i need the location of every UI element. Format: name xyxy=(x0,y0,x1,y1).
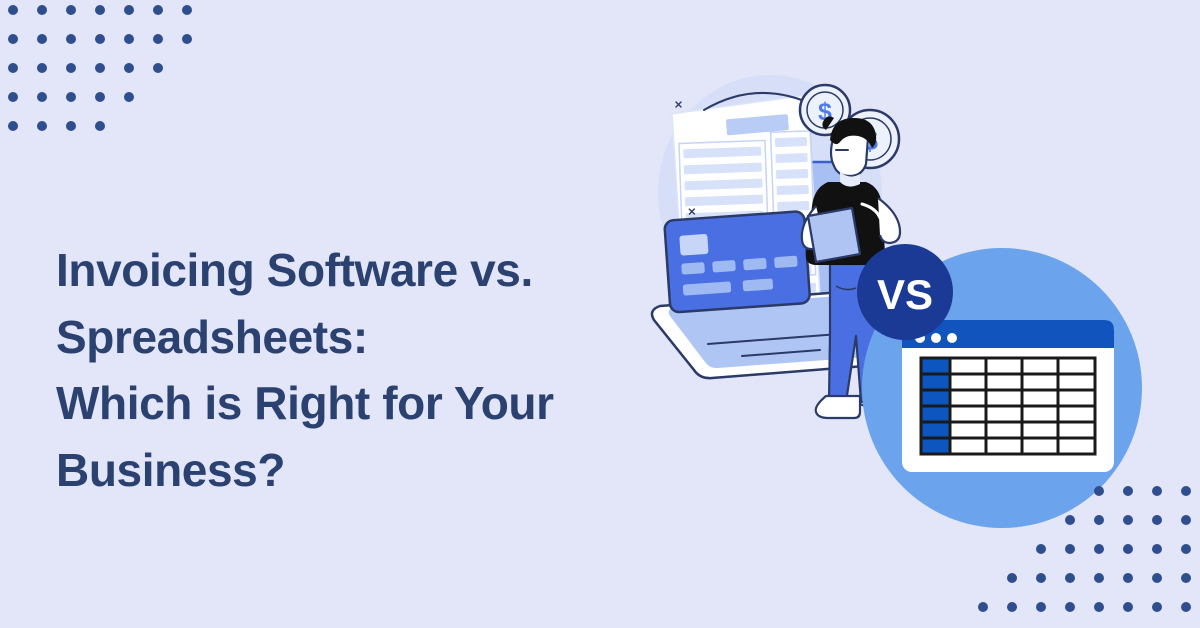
sparkle-icon xyxy=(676,102,681,107)
decorative-dot xyxy=(1094,602,1104,612)
decorative-dot xyxy=(8,92,18,102)
decorative-dot xyxy=(153,34,163,44)
decorative-dot xyxy=(1181,602,1191,612)
decorative-dot xyxy=(66,63,76,73)
decorative-dot xyxy=(153,63,163,73)
decorative-dot xyxy=(1152,573,1162,583)
decorative-dot xyxy=(8,34,18,44)
decorative-dot xyxy=(8,5,18,15)
decorative-dot xyxy=(95,34,105,44)
page-title-line-3: Which is Right for Your xyxy=(56,370,656,437)
decorative-dot xyxy=(95,63,105,73)
page-title: Invoicing Software vs. Spreadsheets: Whi… xyxy=(56,237,656,504)
decorative-dot xyxy=(153,5,163,15)
decorative-dot xyxy=(37,121,47,131)
spreadsheet-grid xyxy=(921,358,1095,454)
decorative-dot xyxy=(1036,573,1046,583)
page-title-line-4: Business? xyxy=(56,437,656,504)
decorative-dot-pattern-top-left xyxy=(0,0,230,160)
decorative-dot xyxy=(182,34,192,44)
decorative-dot xyxy=(66,121,76,131)
decorative-dot xyxy=(95,92,105,102)
decorative-dot xyxy=(66,92,76,102)
decorative-dot xyxy=(37,63,47,73)
decorative-dot xyxy=(37,92,47,102)
decorative-dot xyxy=(37,34,47,44)
hero-banner: Invoicing Software vs. Spreadsheets: Whi… xyxy=(0,0,1200,628)
decorative-dot xyxy=(978,602,988,612)
spreadsheet-window xyxy=(902,320,1114,472)
decorative-dot xyxy=(124,63,134,73)
decorative-dot xyxy=(95,121,105,131)
decorative-dot xyxy=(1007,602,1017,612)
decorative-dot xyxy=(1123,602,1133,612)
decorative-dot xyxy=(1036,602,1046,612)
decorative-dot xyxy=(1007,573,1017,583)
decorative-dot xyxy=(124,34,134,44)
decorative-dot xyxy=(182,5,192,15)
decorative-dot xyxy=(8,121,18,131)
decorative-dot xyxy=(1065,602,1075,612)
decorative-dot xyxy=(37,5,47,15)
decorative-dot xyxy=(1065,573,1075,583)
decorative-dot xyxy=(1123,573,1133,583)
decorative-dot xyxy=(95,5,105,15)
decorative-dot xyxy=(1181,573,1191,583)
vs-badge: VS xyxy=(857,244,953,340)
decorative-dot xyxy=(124,92,134,102)
decorative-dot xyxy=(8,63,18,73)
decorative-dot xyxy=(66,5,76,15)
credit-card-illustration xyxy=(664,211,810,313)
decorative-dot xyxy=(66,34,76,44)
decorative-dot xyxy=(124,5,134,15)
page-title-line-1: Invoicing Software vs. xyxy=(56,237,656,304)
page-title-line-2: Spreadsheets: xyxy=(56,304,656,371)
svg-text:VS: VS xyxy=(877,271,933,318)
hero-illustration: $ $ xyxy=(630,58,1190,558)
decorative-dot xyxy=(1094,573,1104,583)
decorative-dot xyxy=(1152,602,1162,612)
